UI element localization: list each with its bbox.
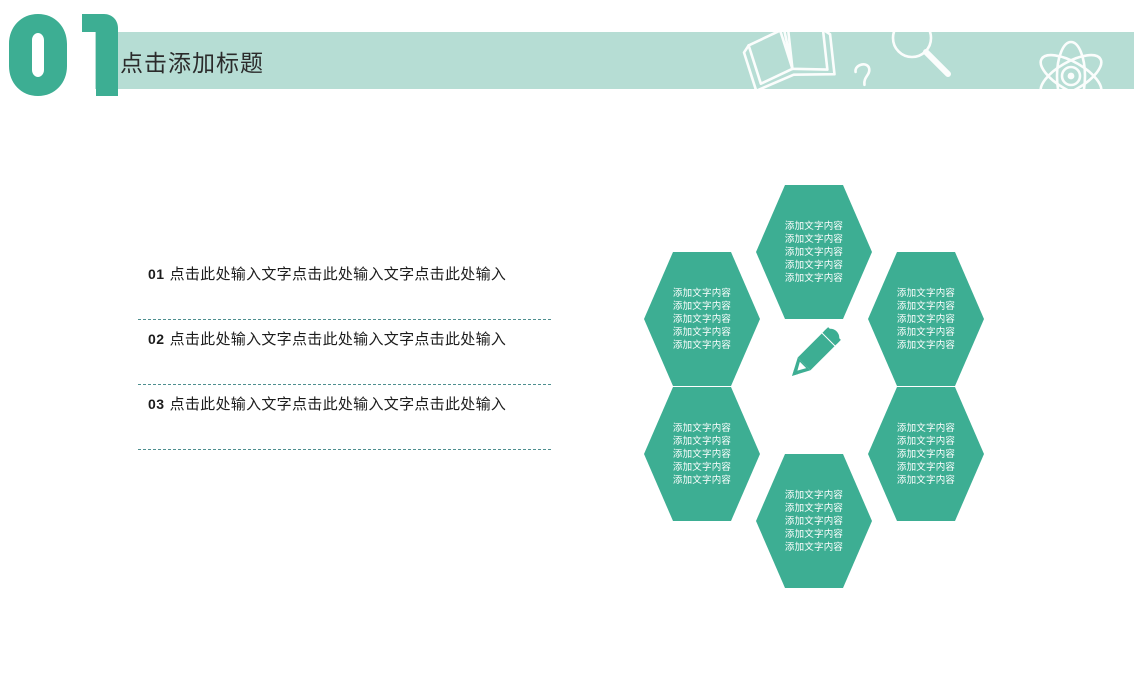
bullet-text: 点击此处输入文字点击此处输入文字点击此处输入	[170, 331, 507, 348]
hexagon-bottom[interactable]: 添加文字内容 添加文字内容 添加文字内容 添加文字内容 添加文字内容	[756, 454, 872, 588]
bullet-index: 02	[148, 331, 165, 347]
bullet-line: 02点击此处输入文字点击此处输入文字点击此处输入	[148, 328, 506, 349]
hexagon-text: 添加文字内容 添加文字内容 添加文字内容 添加文字内容 添加文字内容	[897, 287, 955, 352]
hexagon-cluster: 添加文字内容 添加文字内容 添加文字内容 添加文字内容 添加文字内容 添加文字内…	[644, 185, 984, 560]
hexagon-top[interactable]: 添加文字内容 添加文字内容 添加文字内容 添加文字内容 添加文字内容	[756, 185, 872, 319]
slide-header: 点击添加标题	[0, 0, 1134, 110]
bullet-line: 01点击此处输入文字点击此处输入文字点击此处输入	[148, 263, 506, 284]
magnifier-icon	[893, 32, 948, 74]
section-number	[8, 14, 120, 96]
bullet-divider	[138, 449, 551, 450]
bullet-text: 点击此处输入文字点击此处输入文字点击此处输入	[170, 396, 507, 413]
hexagon-left-lower[interactable]: 添加文字内容 添加文字内容 添加文字内容 添加文字内容 添加文字内容	[644, 387, 760, 521]
list-item[interactable]: 01点击此处输入文字点击此处输入文字点击此处输入	[138, 255, 553, 320]
hexagon-right-upper[interactable]: 添加文字内容 添加文字内容 添加文字内容 添加文字内容 添加文字内容	[868, 252, 984, 386]
hexagon-right-lower[interactable]: 添加文字内容 添加文字内容 添加文字内容 添加文字内容 添加文字内容	[868, 387, 984, 521]
bullet-text: 点击此处输入文字点击此处输入文字点击此处输入	[170, 266, 507, 283]
hexagon-text: 添加文字内容 添加文字内容 添加文字内容 添加文字内容 添加文字内容	[897, 422, 955, 487]
list-item[interactable]: 03点击此处输入文字点击此处输入文字点击此处输入	[138, 385, 553, 450]
hexagon-text: 添加文字内容 添加文字内容 添加文字内容 添加文字内容 添加文字内容	[785, 220, 843, 285]
list-item[interactable]: 02点击此处输入文字点击此处输入文字点击此处输入	[138, 320, 553, 385]
hexagon-left-upper[interactable]: 添加文字内容 添加文字内容 添加文字内容 添加文字内容 添加文字内容	[644, 252, 760, 386]
open-book-icon	[741, 32, 838, 89]
bullet-list: 01点击此处输入文字点击此处输入文字点击此处输入 02点击此处输入文字点击此处输…	[138, 255, 553, 450]
hexagon-text: 添加文字内容 添加文字内容 添加文字内容 添加文字内容 添加文字内容	[673, 287, 731, 352]
atom-icon	[1035, 42, 1108, 89]
hexagon-center-icon	[770, 310, 858, 398]
bullet-index: 03	[148, 396, 165, 412]
bullet-index: 01	[148, 266, 165, 282]
pencil-icon	[779, 319, 849, 389]
page-title: 点击添加标题	[120, 44, 264, 78]
hexagon-text: 添加文字内容 添加文字内容 添加文字内容 添加文字内容 添加文字内容	[785, 489, 843, 554]
question-mark-icon	[855, 64, 873, 89]
bullet-line: 03点击此处输入文字点击此处输入文字点击此处输入	[148, 393, 506, 414]
hexagon-text: 添加文字内容 添加文字内容 添加文字内容 添加文字内容 添加文字内容	[673, 422, 731, 487]
